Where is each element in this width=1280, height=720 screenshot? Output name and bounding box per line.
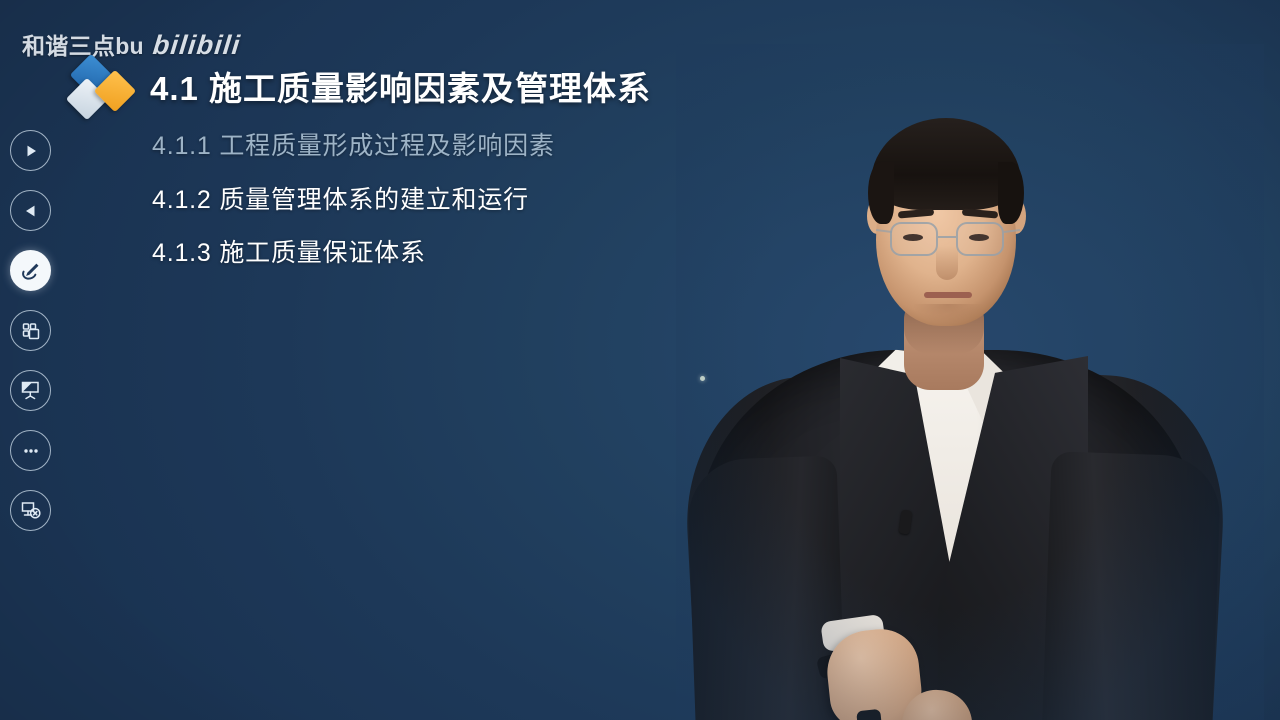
presenter-arm-right [1040, 451, 1221, 720]
more-options-button[interactable] [10, 430, 51, 471]
layout-icon [20, 320, 42, 342]
presenter-mouth [924, 292, 972, 298]
slide-content: 4.1 施工质量影响因素及管理体系 4.1.1 工程质量形成过程及影响因素 4.… [0, 0, 760, 720]
list-item[interactable]: 4.1.2 质量管理体系的建立和运行 [152, 187, 555, 215]
presenter-chin-shadow [912, 304, 984, 324]
previous-page-button[interactable] [10, 190, 51, 231]
presenter-arm-left [686, 455, 847, 720]
previous-icon [23, 203, 39, 219]
stop-share-icon [19, 499, 42, 522]
list-item[interactable]: 4.1.3 施工质量保证体系 [152, 240, 555, 268]
play-button[interactable] [10, 130, 51, 171]
list-item[interactable]: 4.1.1 工程质量形成过程及影响因素 [152, 133, 555, 161]
pen-icon [19, 259, 43, 283]
whiteboard-button[interactable] [10, 370, 51, 411]
glasses-bridge [938, 236, 956, 238]
slide-bullet-list: 4.1.1 工程质量形成过程及影响因素 4.1.2 质量管理体系的建立和运行 4… [152, 133, 555, 294]
glasses-lens-right [956, 222, 1004, 256]
pen-tool-button[interactable] [10, 250, 51, 291]
whiteboard-icon [19, 379, 42, 402]
stop-sharing-button[interactable] [10, 490, 51, 531]
presenter-video-overlay [690, 58, 1250, 720]
video-player-stage: 和谐三点bu bilibili 4.1 施工质量影响因素及管理体系 4.1.1 … [0, 0, 1280, 720]
play-icon [23, 143, 39, 159]
presenter-hair-right [998, 162, 1024, 224]
layout-button[interactable] [10, 310, 51, 351]
glasses-lens-left [890, 222, 938, 256]
slide-logo [70, 58, 140, 120]
more-options-icon [21, 441, 41, 461]
annotation-toolbar [0, 0, 62, 720]
presenter-hair-left [868, 162, 894, 224]
presenter-nose [936, 246, 958, 280]
page-title: 4.1 施工质量影响因素及管理体系 [150, 62, 651, 110]
